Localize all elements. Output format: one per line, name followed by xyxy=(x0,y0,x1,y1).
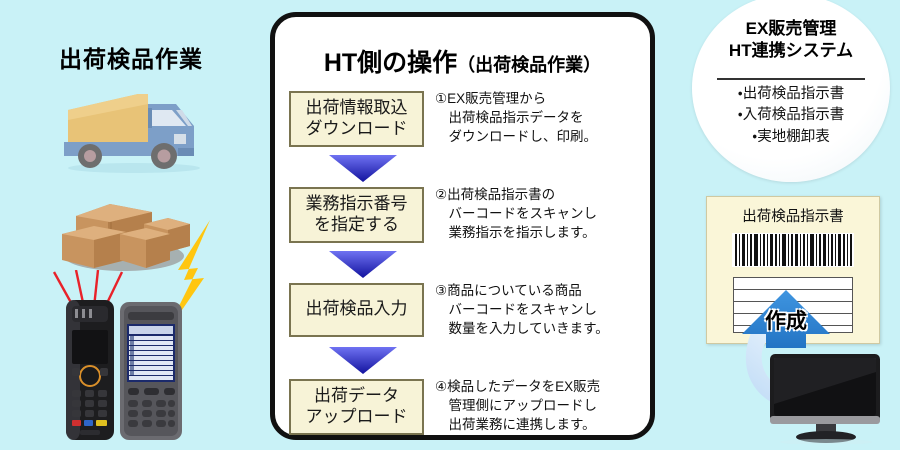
left-illustration-column: 出荷検品作業 xyxy=(0,0,262,450)
down-triangle-arrow-icon-3 xyxy=(327,345,399,375)
down-triangle-arrow-icon-1 xyxy=(327,153,399,183)
step-desc-2: ②出荷検品指示書の バーコードをスキャンし 業務指示を指示します。 xyxy=(435,185,650,242)
handheld-terminal-gray-icon xyxy=(118,300,184,442)
handheld-terminal-black-icon xyxy=(62,296,118,442)
system-divider xyxy=(717,78,865,80)
system-circle: EX販売管理 HT連携システム ・出荷検品指示書 ・入荷検品指示書 ・実地棚卸表 xyxy=(692,0,890,182)
step-box-3[interactable]: 出荷検品入力 xyxy=(289,283,424,337)
left-heading: 出荷検品作業 xyxy=(0,40,262,74)
panel-title: HT側の操作（出荷検品作業） xyxy=(275,43,650,79)
diagram-canvas: 出荷検品作業 xyxy=(0,0,900,450)
step-box-2[interactable]: 業務指示番号 を指定する xyxy=(289,187,424,243)
create-label: 作成 xyxy=(740,305,832,335)
step-box-1[interactable]: 出荷情報取込 ダウンロード xyxy=(289,91,424,147)
step-desc-4: ④検品したデータをEX販売 管理側にアップロードし 出荷業務に連携します。 xyxy=(435,377,650,434)
step-desc-1: ①EX販売管理から 出荷検品指示データを ダウンロードし、印刷。 xyxy=(435,89,650,146)
system-title: EX販売管理 HT連携システム xyxy=(692,18,890,63)
panel-title-sub: （出荷検品作業） xyxy=(457,55,601,75)
document-title: 出荷検品指示書 xyxy=(707,205,879,226)
desktop-monitor-icon xyxy=(764,352,890,444)
down-triangle-arrow-icon-2 xyxy=(327,249,399,279)
step-box-4[interactable]: 出荷データ アップロード xyxy=(289,379,424,435)
ht-operation-panel: HT側の操作（出荷検品作業） 出荷情報取込 ダウンロード ①EX販売管理から 出… xyxy=(270,12,655,440)
panel-title-main: HT側の操作 xyxy=(324,49,457,77)
step-desc-3: ③商品についている商品 バーコードをスキャンし 数量を入力していきます。 xyxy=(435,281,650,338)
delivery-truck-icon xyxy=(52,82,212,174)
system-document-list: ・出荷検品指示書 ・入荷検品指示書 ・実地棚卸表 xyxy=(692,84,890,148)
barcode-icon xyxy=(732,233,854,267)
